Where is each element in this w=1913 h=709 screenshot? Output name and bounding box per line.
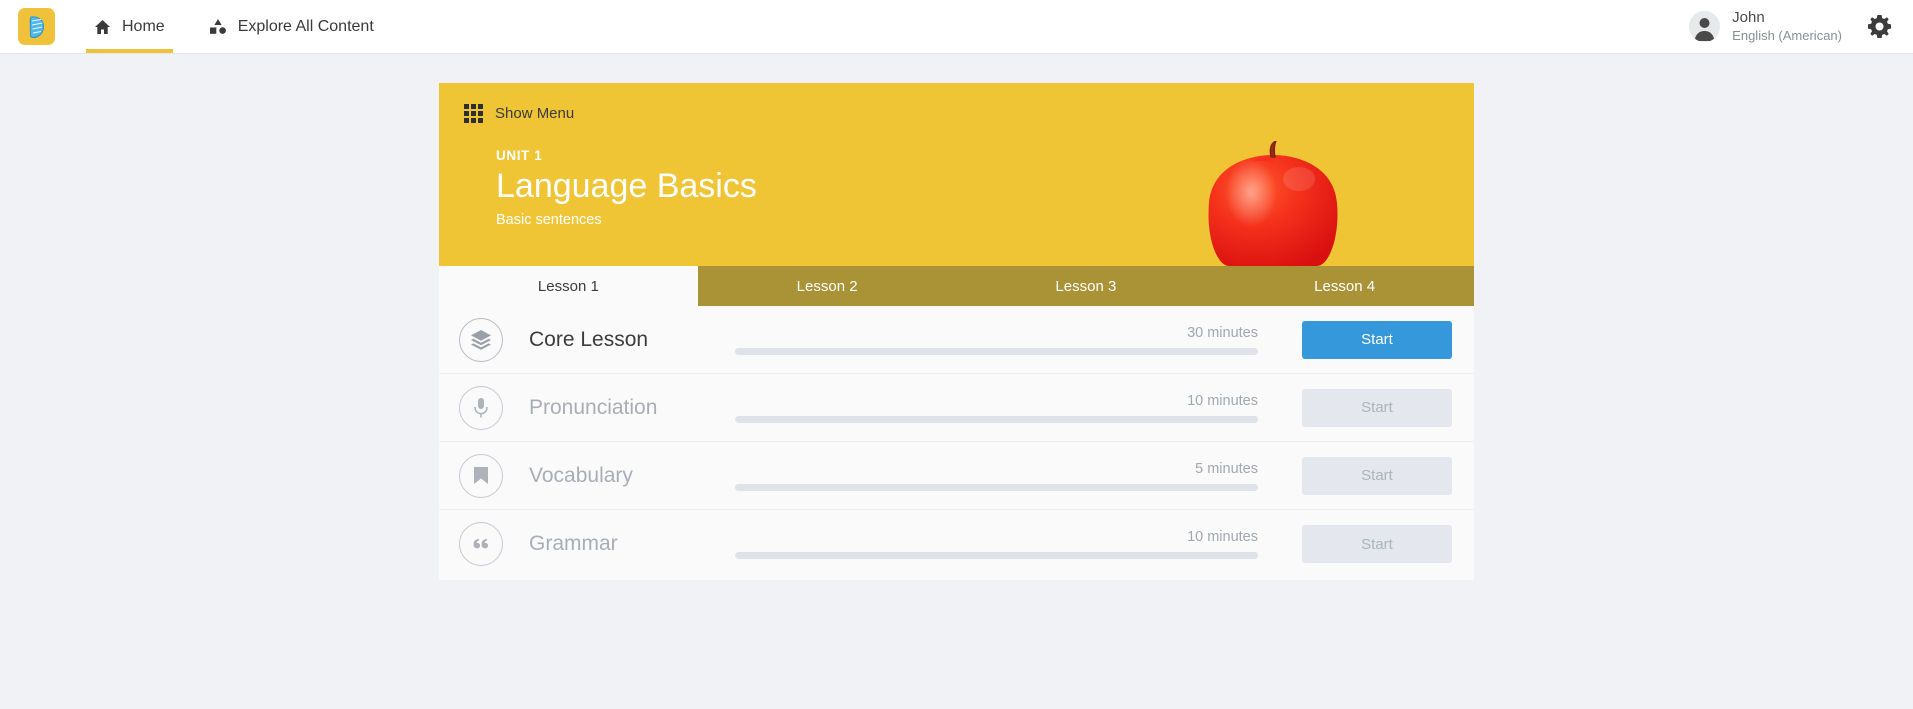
progress-grammar: 10 minutes — [735, 529, 1302, 559]
tab-lesson-1[interactable]: Lesson 1 — [439, 266, 698, 306]
page-content: Show Menu UNIT 1 Language Basics Basic s… — [0, 54, 1913, 580]
lesson-name-grammar: Grammar — [529, 532, 725, 556]
unit-subtitle: Basic sentences — [496, 212, 757, 228]
unit-title: Language Basics — [496, 168, 757, 205]
tab-lesson-4[interactable]: Lesson 4 — [1215, 266, 1474, 306]
user-text-block: John English (American) — [1732, 9, 1842, 44]
lesson-row-core-lesson: Core Lesson 30 minutes Start — [439, 306, 1474, 374]
lesson-tabs: Lesson 1 Lesson 2 Lesson 3 Lesson 4 — [439, 266, 1474, 306]
book-icon — [459, 454, 503, 498]
duration-core-lesson: 30 minutes — [1187, 325, 1258, 341]
unit-card: Show Menu UNIT 1 Language Basics Basic s… — [439, 83, 1474, 580]
progress-core-lesson: 30 minutes — [735, 325, 1302, 355]
user-profile[interactable]: John English (American) — [1689, 9, 1842, 44]
start-button-pronunciation[interactable]: Start — [1302, 389, 1452, 427]
progress-vocabulary: 5 minutes — [735, 461, 1302, 491]
unit-heading-block: UNIT 1 Language Basics Basic sentences — [496, 148, 757, 228]
duration-pronunciation: 10 minutes — [1187, 393, 1258, 409]
duration-vocabulary: 5 minutes — [1195, 461, 1258, 477]
quote-icon — [459, 522, 503, 566]
nav-item-home-label: Home — [122, 18, 165, 36]
shapes-icon — [209, 18, 227, 35]
primary-nav-items: Home Explore All Content — [72, 0, 396, 53]
unit-hero-banner: Show Menu UNIT 1 Language Basics Basic s… — [439, 83, 1474, 266]
show-menu-label: Show Menu — [495, 105, 574, 122]
lesson-row-grammar: Grammar 10 minutes Start — [439, 510, 1474, 578]
duration-grammar: 10 minutes — [1187, 529, 1258, 545]
gear-icon[interactable] — [1868, 15, 1891, 38]
progress-track-vocabulary — [735, 484, 1258, 491]
layers-icon — [459, 318, 503, 362]
tab-lesson-3[interactable]: Lesson 3 — [957, 266, 1216, 306]
progress-track-core-lesson — [735, 348, 1258, 355]
lesson-row-pronunciation: Pronunciation 10 minutes Start — [439, 374, 1474, 442]
nav-item-home[interactable]: Home — [72, 0, 187, 53]
lesson-name-pronunciation: Pronunciation — [529, 396, 725, 420]
tab-lesson-1-label: Lesson 1 — [538, 278, 599, 295]
show-menu-button[interactable]: Show Menu — [464, 104, 574, 123]
rosetta-stone-logo-icon[interactable] — [18, 8, 55, 45]
grid-menu-icon — [464, 104, 483, 123]
unit-number-label: UNIT 1 — [496, 148, 757, 163]
lesson-activity-list: Core Lesson 30 minutes Start — [439, 306, 1474, 580]
progress-pronunciation: 10 minutes — [735, 393, 1302, 423]
start-button-vocabulary[interactable]: Start — [1302, 457, 1452, 495]
nav-item-explore-all-content[interactable]: Explore All Content — [187, 0, 396, 53]
person-avatar-icon — [1689, 11, 1720, 42]
logo-container[interactable] — [0, 0, 72, 53]
tab-lesson-2-label: Lesson 2 — [797, 278, 858, 295]
tab-lesson-3-label: Lesson 3 — [1055, 278, 1116, 295]
lesson-name-vocabulary: Vocabulary — [529, 464, 725, 488]
lesson-name-core-lesson: Core Lesson — [529, 328, 725, 352]
user-language: English (American) — [1732, 28, 1842, 44]
progress-track-pronunciation — [735, 416, 1258, 423]
tab-lesson-2[interactable]: Lesson 2 — [698, 266, 957, 306]
microphone-icon — [459, 386, 503, 430]
red-apple-photo — [1187, 141, 1359, 266]
start-button-grammar[interactable]: Start — [1302, 525, 1452, 563]
progress-track-grammar — [735, 552, 1258, 559]
start-button-core-lesson[interactable]: Start — [1302, 321, 1452, 359]
tab-lesson-4-label: Lesson 4 — [1314, 278, 1375, 295]
nav-item-explore-label: Explore All Content — [238, 18, 374, 36]
topbar-right-section: John English (American) — [1689, 0, 1913, 53]
user-name: John — [1732, 9, 1842, 28]
top-navigation-bar: Home Explore All Content — [0, 0, 1913, 54]
home-icon — [94, 19, 111, 35]
lesson-row-vocabulary: Vocabulary 5 minutes Start — [439, 442, 1474, 510]
